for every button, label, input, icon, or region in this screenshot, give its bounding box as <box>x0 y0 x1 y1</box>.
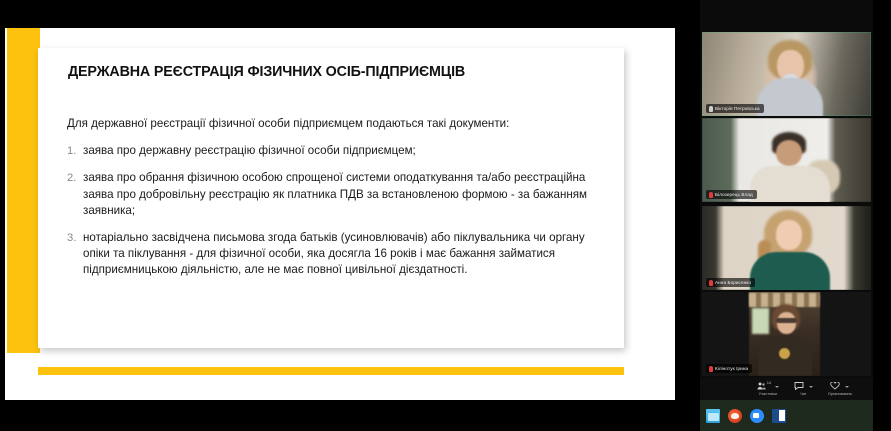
toolbar-chat-label: Чат <box>800 392 806 396</box>
toolbar-reactions-button[interactable]: Организовать <box>828 382 852 396</box>
chevron-down-icon[interactable] <box>809 386 813 388</box>
slide-title: ДЕРЖАВНА РЕЄСТРАЦІЯ ФІЗИЧНИХ ОСІБ-ПІДПРИ… <box>68 64 598 80</box>
participant-name: Кілінотук Ірина <box>715 366 748 371</box>
list-item: нотаріально засвідчена письмова згода ба… <box>67 230 590 279</box>
microphone-muted-icon <box>709 366 713 372</box>
toolbar-chat-button[interactable]: Чат <box>794 382 813 396</box>
microphone-muted-icon <box>709 280 713 286</box>
toolbar-participants-button[interactable]: 14 Участники <box>757 382 779 396</box>
participant-name: Вікторія Петровська <box>715 106 760 111</box>
slide-document-list: заява про державну реєстрацію фізичної о… <box>67 143 590 278</box>
video-participants-panel: Вікторія Петровська Білозерець Влад Анна… <box>700 0 873 431</box>
participant-name-chip: Вікторія Петровська <box>706 104 764 113</box>
chat-bubble-icon <box>794 382 804 390</box>
taskbar-word-icon[interactable] <box>772 409 786 423</box>
toolbar-reactions-label: Организовать <box>828 392 852 396</box>
participant-tile[interactable]: Білозерець Влад <box>702 118 871 202</box>
meeting-toolbar: 14 Участники Чат <box>700 378 873 400</box>
list-item: заява про державну реєстрацію фізичної о… <box>67 143 590 159</box>
slide-footer-accent-bar <box>38 367 624 375</box>
participant-tile[interactable]: Кілінотук Ірина <box>702 292 871 376</box>
participant-name-chip: Білозерець Влад <box>706 190 757 199</box>
screen: ДЕРЖАВНА РЕЄСТРАЦІЯ ФІЗИЧНИХ ОСІБ-ПІДПРИ… <box>0 0 891 431</box>
participant-name: Білозерець Влад <box>715 192 753 197</box>
taskbar-file-explorer-icon[interactable] <box>706 409 720 423</box>
microphone-muted-icon <box>709 192 713 198</box>
taskbar-browser-icon[interactable] <box>728 409 742 423</box>
microphone-icon <box>709 106 713 112</box>
participant-name-chip: Кілінотук Ірина <box>706 364 752 373</box>
chevron-down-icon[interactable] <box>845 386 849 388</box>
participants-count: 14 <box>767 382 771 386</box>
slide-intro-paragraph: Для державної реєстрації фізичної особи … <box>67 116 590 132</box>
participant-name: Анна Борисенко <box>715 280 751 285</box>
participant-tile[interactable]: Анна Борисенко <box>702 206 871 290</box>
chevron-down-icon[interactable] <box>775 386 779 388</box>
participant-name-chip: Анна Борисенко <box>706 278 755 287</box>
heart-icon <box>830 382 840 390</box>
participant-tile[interactable]: Вікторія Петровська <box>702 32 871 116</box>
taskbar-zoom-icon[interactable] <box>750 409 764 423</box>
list-item: заява про обрання фізичною особою спроще… <box>67 170 590 219</box>
shared-screen-slide: ДЕРЖАВНА РЕЄСТРАЦІЯ ФІЗИЧНИХ ОСІБ-ПІДПРИ… <box>5 28 675 400</box>
slide-accent-band <box>7 28 40 353</box>
windows-taskbar <box>700 400 873 431</box>
participants-icon <box>757 382 766 390</box>
toolbar-participants-label: Участники <box>759 392 777 396</box>
slide-body: Для державної реєстрації фізичної особи … <box>67 116 590 290</box>
